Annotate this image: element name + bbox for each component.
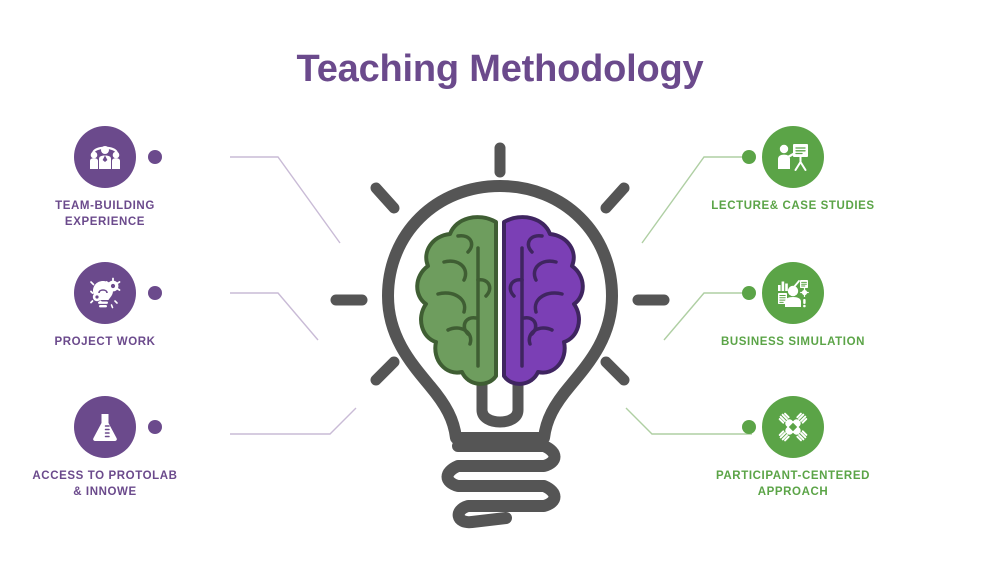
connector-dot-business-simulation: [742, 286, 756, 300]
caption-line-1: PROJECT WORK: [0, 334, 230, 350]
caption-line-1: PARTICIPANT-CENTERED: [668, 468, 918, 484]
connector-project-work: [230, 293, 318, 340]
caption-line-1: BUSINESS SIMULATION: [668, 334, 918, 350]
flask-icon: [74, 396, 136, 458]
connector-dot-team-building: [148, 150, 162, 164]
caption-line-2: APPROACH: [668, 484, 918, 500]
bulb-gears-icon: [74, 262, 136, 324]
caption-line-1: LECTURE& CASE STUDIES: [668, 198, 918, 214]
ray-lower-right: [606, 362, 624, 380]
four-hands-icon: [762, 396, 824, 458]
brain-right-hemisphere: [504, 217, 583, 384]
item-label-team-building: TEAM-BUILDING EXPERIENCE: [0, 198, 230, 230]
item-label-access-protolab: ACCESS TO PROTOLAB & INNOWE: [0, 468, 230, 500]
item-label-business-simulation: BUSINESS SIMULATION: [668, 334, 918, 350]
caption-line-1: ACCESS TO PROTOLAB: [0, 468, 230, 484]
item-label-lecture-case-studies: LECTURE& CASE STUDIES: [668, 198, 918, 214]
ray-upper-left: [376, 188, 394, 208]
bulb-screw-base: [448, 446, 555, 522]
business-chart-person-icon: [762, 262, 824, 324]
brain-left-hemisphere: [417, 217, 496, 384]
connector-dot-lecture-case-studies: [742, 150, 756, 164]
caption-line-2: & INNOWE: [0, 484, 230, 500]
item-label-project-work: PROJECT WORK: [0, 334, 230, 350]
lightbulb-brain-illustration: [318, 130, 682, 530]
connector-dot-participant-centered: [742, 420, 756, 434]
connector-dot-project-work: [148, 286, 162, 300]
ray-upper-right: [606, 188, 624, 208]
item-label-participant-centered: PARTICIPANT-CENTERED APPROACH: [668, 468, 918, 500]
page-title: Teaching Methodology: [0, 48, 1000, 91]
caption-line-2: EXPERIENCE: [0, 214, 230, 230]
caption-line-1: TEAM-BUILDING: [0, 198, 230, 214]
ray-lower-left: [376, 362, 394, 380]
connector-dot-access-protolab: [148, 420, 162, 434]
infographic-canvas: Teaching Methodology: [0, 0, 1000, 575]
presenter-board-icon: [762, 126, 824, 188]
team-people-icon: [74, 126, 136, 188]
